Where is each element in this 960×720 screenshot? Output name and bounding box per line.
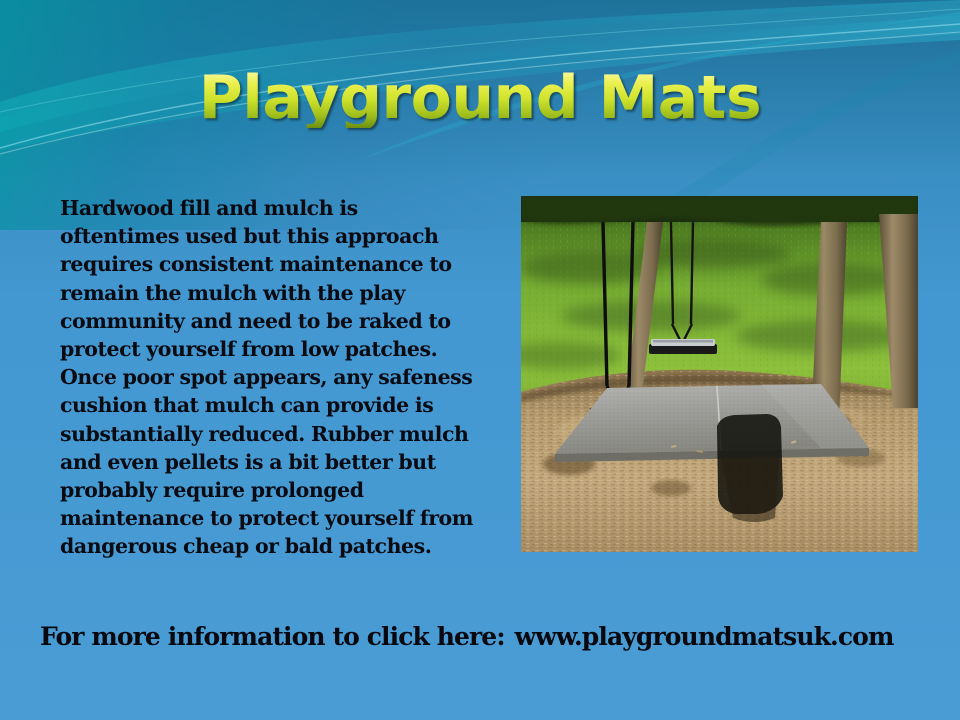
footer-url[interactable]: www.playgroundmatsuk.com xyxy=(515,622,894,651)
footer-prompt: For more information to click here: xyxy=(40,622,505,651)
playground-photo-illustration xyxy=(521,196,918,552)
slide-title: Playground Mats xyxy=(0,68,960,128)
footer-link-line[interactable]: For more information to click here:www.p… xyxy=(40,620,920,654)
presentation-slide: Playground Mats Hardwood fill and mulch … xyxy=(0,0,960,720)
playground-photo xyxy=(521,196,918,552)
body-paragraph: Hardwood fill and mulch is oftentimes us… xyxy=(60,194,480,561)
